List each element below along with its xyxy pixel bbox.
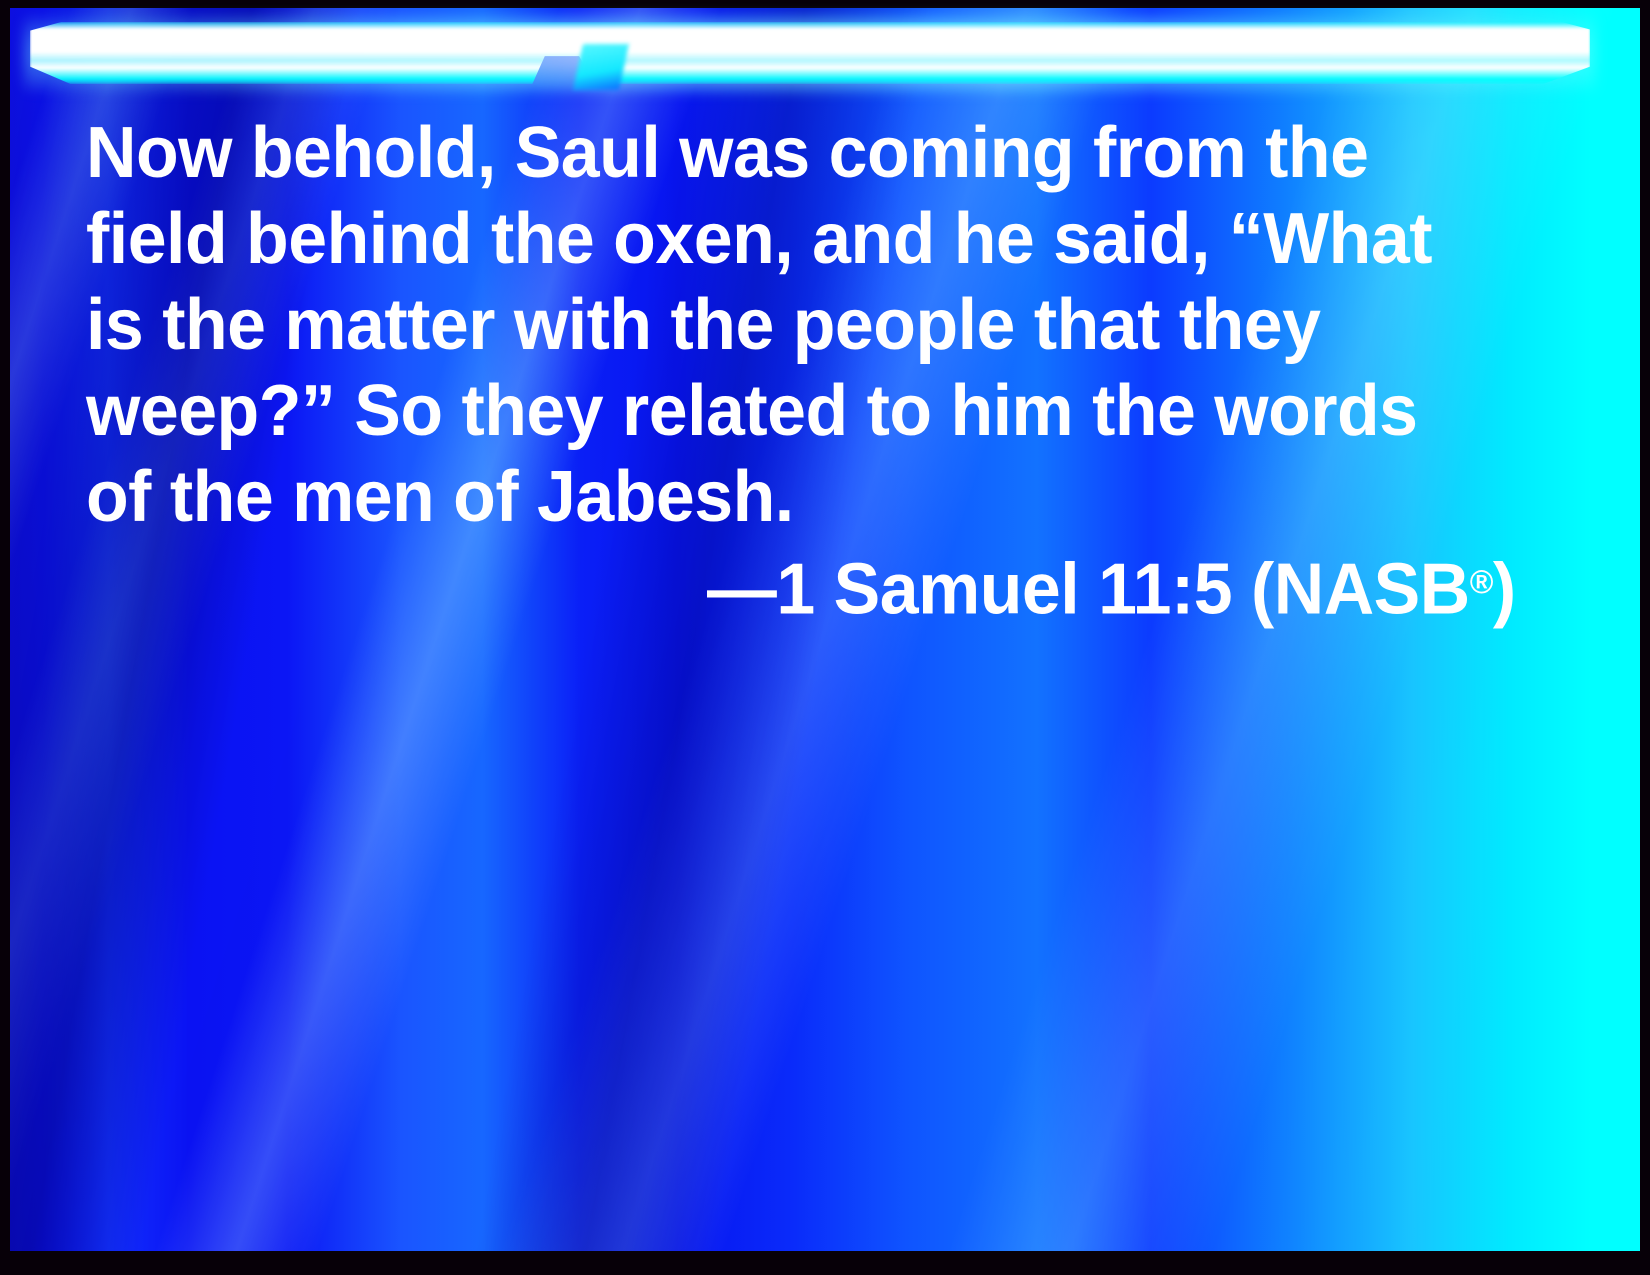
attribution-reference: 1 Samuel 11:5 (NASB xyxy=(777,550,1470,630)
verse-line: Now behold, Saul was coming from the xyxy=(86,110,1473,196)
verse-text-block: Now behold, Saul was coming from the fie… xyxy=(86,110,1516,540)
verse-line: weep?” So they related to him the words xyxy=(86,368,1473,454)
verse-line: field behind the oxen, and he said, “Wha… xyxy=(86,196,1473,282)
attribution-text: —1 Samuel 11:5 (NASB®) xyxy=(707,540,1516,633)
top-banner-notch-icon xyxy=(573,44,629,90)
attribution-closing-paren: ) xyxy=(1493,550,1516,630)
verse-line: of the men of Jabesh. xyxy=(86,454,1473,540)
verse-slide: Now behold, Saul was coming from the fie… xyxy=(0,0,1650,1275)
top-banner-bar xyxy=(30,22,1590,84)
verse-line: is the matter with the people that they xyxy=(86,282,1473,368)
registered-trademark-icon: ® xyxy=(1470,564,1493,601)
attribution-dash: — xyxy=(707,550,776,630)
verse-attribution: —1 Samuel 11:5 (NASB®) xyxy=(86,540,1522,633)
